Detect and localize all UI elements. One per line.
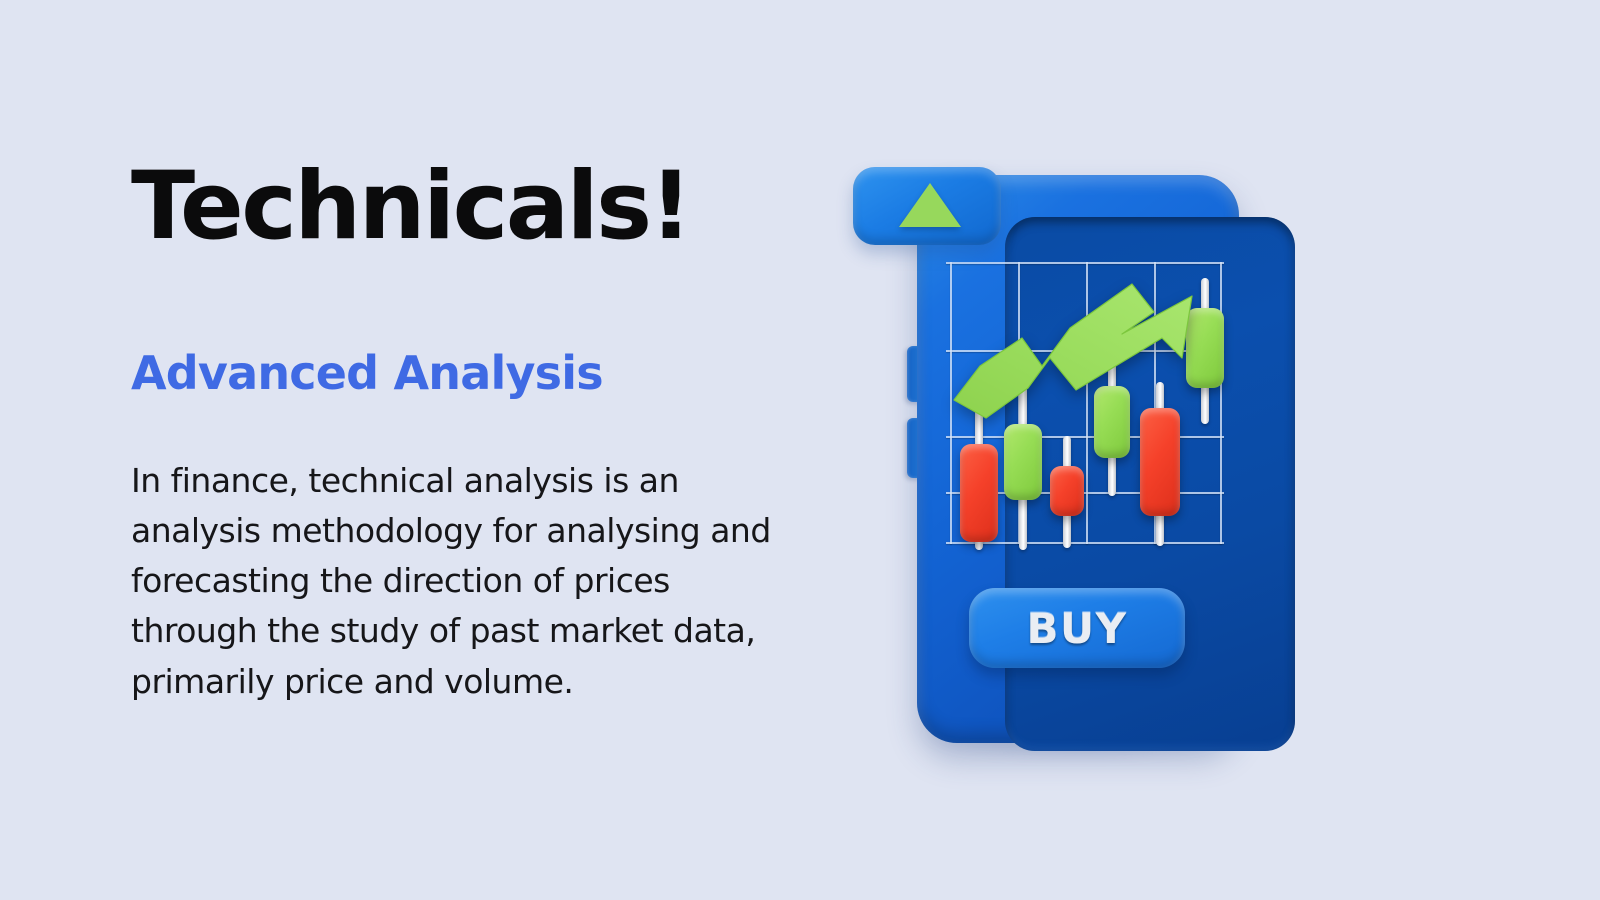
candle-body-up xyxy=(1004,424,1042,500)
grid-line-h xyxy=(946,350,1224,352)
grid-line-v xyxy=(1086,262,1088,544)
candle-body-up xyxy=(1186,308,1224,388)
candle-3 xyxy=(1050,436,1084,548)
candle-body-down xyxy=(1050,466,1084,516)
grid-line-h xyxy=(946,262,1224,264)
buy-button-label: BUY xyxy=(1026,604,1127,653)
candle-5 xyxy=(1140,382,1180,546)
buy-button[interactable]: BUY xyxy=(969,588,1185,668)
candle-1 xyxy=(960,402,998,550)
candle-body-down xyxy=(960,444,998,542)
page-title: Technicals! xyxy=(131,160,811,254)
candle-body-up xyxy=(1094,386,1130,458)
candle-6 xyxy=(1186,278,1224,424)
candle-2 xyxy=(1004,386,1042,550)
candle-body-down xyxy=(1140,408,1180,516)
text-content-column: Technicals! Advanced Analysis In finance… xyxy=(131,160,811,707)
notification-badge[interactable] xyxy=(853,167,1001,245)
page-subtitle: Advanced Analysis xyxy=(131,350,811,396)
up-triangle-icon xyxy=(899,183,961,227)
candle-4 xyxy=(1094,362,1130,496)
candlestick-chart xyxy=(946,262,1224,544)
body-paragraph: In finance, technical analysis is an ana… xyxy=(131,456,771,707)
grid-line-v xyxy=(950,262,952,544)
trading-app-illustration: BUY xyxy=(845,150,1305,770)
